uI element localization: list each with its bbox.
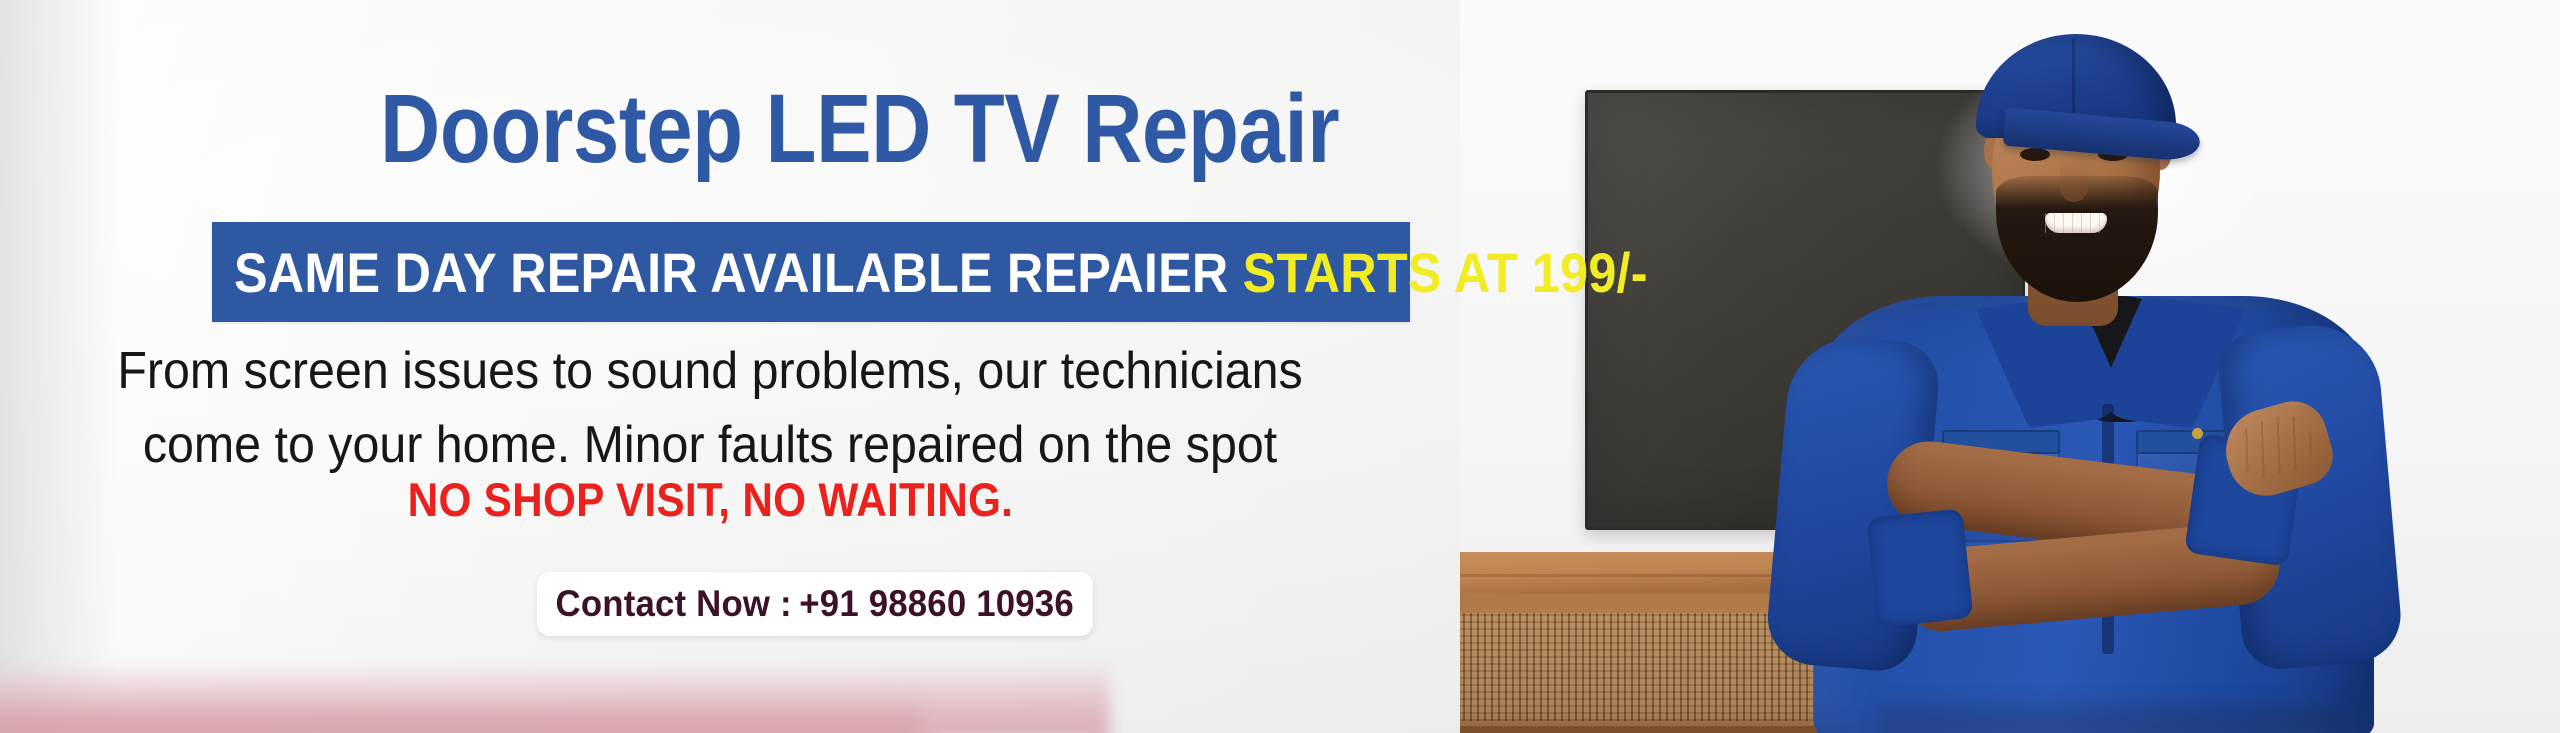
tagline-text: NO SHOP VISIT, NO WAITING. bbox=[407, 472, 1013, 527]
offer-highlight-bar: SAME DAY REPAIR AVAILABLE REPAIER STARTS… bbox=[212, 222, 1410, 322]
contact-now-button[interactable]: Contact Now :+91 98860 10936 bbox=[537, 572, 1093, 636]
banner-photo bbox=[1460, 0, 2560, 733]
offer-text-white: SAME DAY REPAIR AVAILABLE REPAIER bbox=[234, 241, 1243, 304]
technician-figure bbox=[1760, 8, 2560, 733]
body-description: From screen issues to sound problems, ou… bbox=[0, 335, 1420, 483]
body-line-1: From screen issues to sound problems, ou… bbox=[50, 335, 1371, 409]
contact-label: Contact Now : bbox=[556, 583, 792, 624]
contact-phone-number[interactable]: +91 98860 10936 bbox=[800, 583, 1075, 624]
offer-price-accent: STARTS AT 199/- bbox=[1243, 241, 1648, 304]
page-title: Doorstep LED TV Repair bbox=[380, 78, 1339, 180]
smiling-mouth bbox=[2045, 213, 2107, 233]
banner-copy: Doorstep LED TV Repair SAME DAY REPAIR A… bbox=[0, 0, 1480, 733]
tagline: NO SHOP VISIT, NO WAITING. bbox=[0, 472, 1420, 527]
led-tv-repair-banner: Doorstep LED TV Repair SAME DAY REPAIR A… bbox=[0, 0, 2560, 733]
contact-now-text: Contact Now :+91 98860 10936 bbox=[556, 583, 1074, 625]
technician-contact-shadow bbox=[1880, 707, 2340, 733]
shirt-button bbox=[2192, 428, 2203, 439]
offer-highlight-text: SAME DAY REPAIR AVAILABLE REPAIER STARTS… bbox=[234, 240, 1648, 305]
eye-left bbox=[2020, 148, 2050, 161]
sleeve-cuff-left bbox=[1867, 508, 1974, 627]
nose bbox=[2060, 160, 2088, 202]
